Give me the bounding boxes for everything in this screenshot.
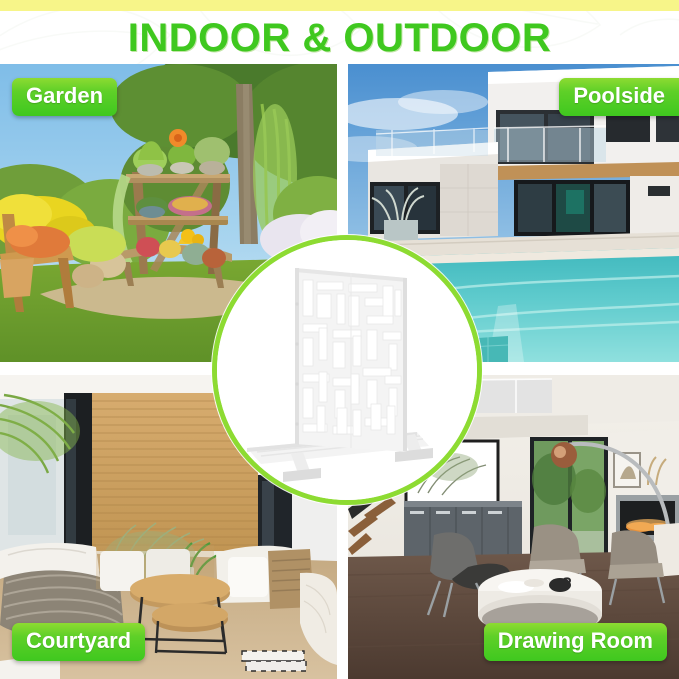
label-garden[interactable]: Garden [12, 78, 117, 116]
privacy-screen-illustration [217, 240, 477, 500]
page-title: INDOOR & OUTDOOR [0, 13, 679, 63]
promo-image: INDOOR & OUTDOOR [0, 0, 679, 679]
label-courtyard[interactable]: Courtyard [12, 623, 145, 661]
top-accent-band [0, 0, 679, 11]
label-drawing-room[interactable]: Drawing Room [484, 623, 667, 661]
label-poolside[interactable]: Poolside [559, 78, 679, 116]
product-callout-circle[interactable] [212, 235, 482, 505]
